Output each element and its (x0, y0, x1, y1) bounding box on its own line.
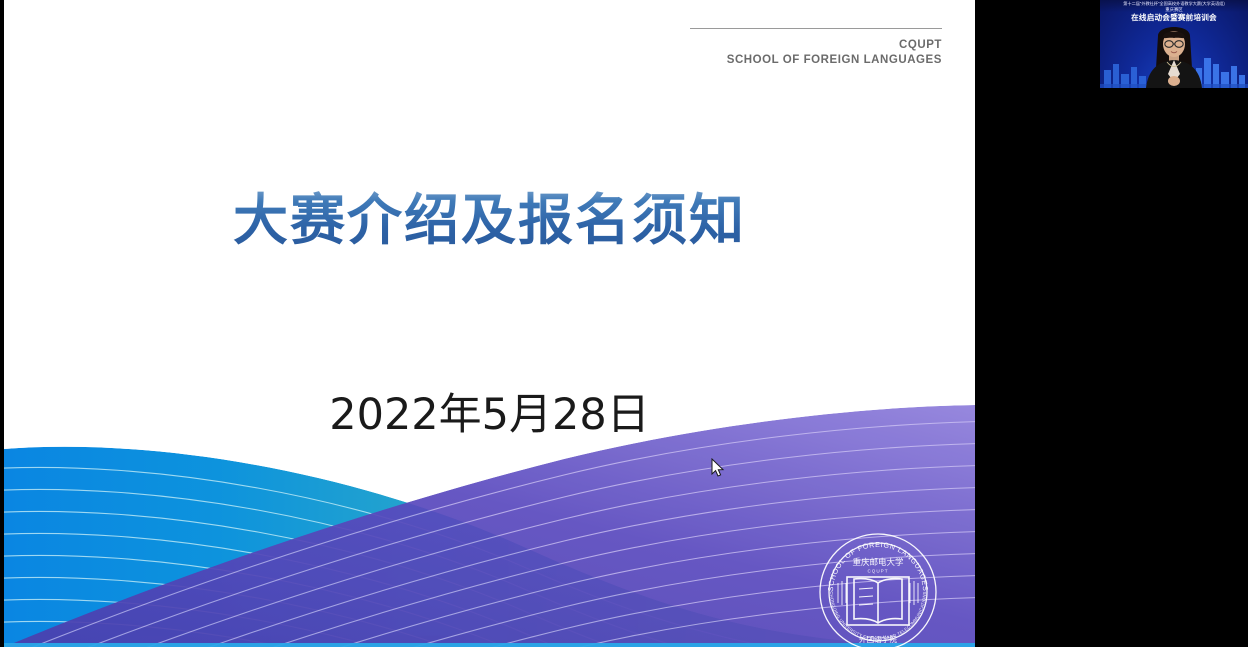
emblem-inner-bottom-text: 外国语学院 (859, 634, 897, 644)
video-banner-line1: 第十二届“外教社杯”全国高校外语教学大赛(大学英语组) (1104, 1, 1245, 7)
slide-title: 大赛介绍及报名须知 (233, 186, 746, 255)
header-divider-line (690, 28, 942, 29)
header-school-name: SCHOOL OF FOREIGN LANGUAGES (690, 53, 942, 68)
screen-capture: CQUPT SCHOOL OF FOREIGN LANGUAGES 大赛介绍及报… (0, 0, 1248, 647)
presentation-slide: CQUPT SCHOOL OF FOREIGN LANGUAGES 大赛介绍及报… (4, 0, 975, 647)
presenter-figure (1128, 26, 1220, 88)
header-institution-abbr: CQUPT (690, 38, 942, 53)
video-banner-text: 第十二届“外教社杯”全国高校外语教学大赛(大学英语组) 重庆赛区 在线启动会暨赛… (1100, 1, 1248, 23)
presenter-video-thumbnail[interactable]: 第十二届“外教社杯”全国高校外语教学大赛(大学英语组) 重庆赛区 在线启动会暨赛… (1100, 0, 1248, 88)
school-emblem: SCHOOL OF FOREIGN LANGUAGES CHONGQING UN… (817, 531, 939, 647)
emblem-inner-top-text: 重庆邮电大学 (852, 557, 904, 568)
emblem-abbr-text: CQUPT (867, 569, 888, 574)
slide-header: CQUPT SCHOOL OF FOREIGN LANGUAGES (690, 28, 942, 68)
video-banner-line3: 在线启动会暨赛前培训会 (1100, 12, 1248, 23)
slide-title-container: 大赛介绍及报名须知 (4, 186, 975, 255)
